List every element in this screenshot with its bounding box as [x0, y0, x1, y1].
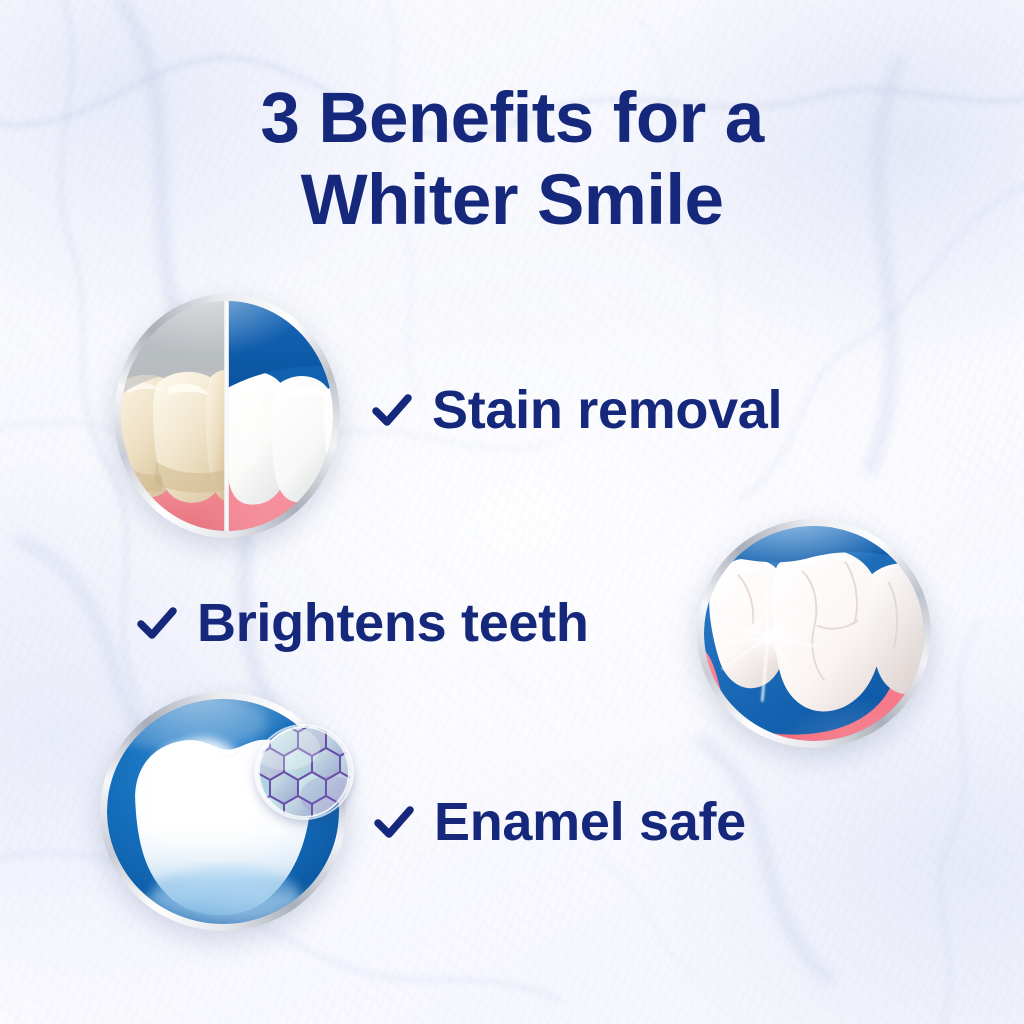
benefit-1-image-before-after-teeth	[114, 294, 340, 538]
benefit-1-row: Stain removal	[370, 383, 782, 437]
hexagon-enamel-magnifier-icon	[256, 726, 352, 818]
benefit-2-row: Brightens teeth	[135, 596, 589, 650]
check-icon	[372, 800, 416, 844]
benefit-2-lens-content	[704, 526, 924, 741]
check-icon	[370, 388, 414, 432]
headline-line-1: 3 Benefits for a	[0, 78, 1024, 160]
benefit-1-lens-content	[121, 301, 333, 531]
benefit-2-label: Brightens teeth	[197, 596, 589, 650]
check-icon	[135, 601, 179, 645]
benefit-1-label: Stain removal	[432, 383, 782, 437]
page-title: 3 Benefits for a Whiter Smile	[0, 78, 1024, 241]
headline-line-2: Whiter Smile	[0, 160, 1024, 242]
benefit-3-row: Enamel safe	[372, 795, 746, 849]
benefit-2-image-bright-teeth	[697, 519, 931, 748]
poster-canvas: 3 Benefits for a Whiter Smile	[0, 0, 1024, 1024]
benefit-3-label: Enamel safe	[434, 795, 746, 849]
